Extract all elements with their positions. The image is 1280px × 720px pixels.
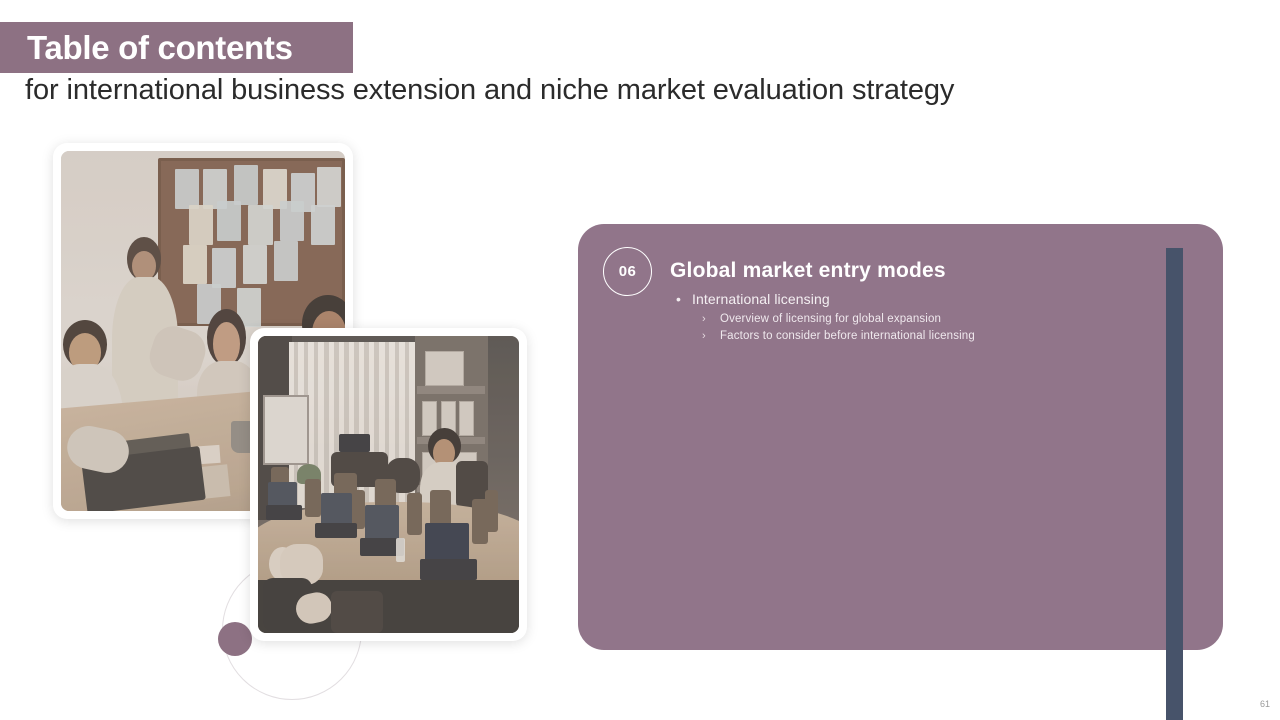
section-heading: Global market entry modes [670, 259, 946, 283]
section-number-badge: 06 [603, 247, 652, 296]
section-number: 06 [619, 263, 637, 280]
section-sub-bullet-list: › Overview of licensing for global expan… [702, 311, 1146, 344]
chevron-right-icon: › [702, 328, 720, 344]
decorative-dot [218, 622, 252, 656]
sub-bullet-label: Factors to consider before international… [720, 328, 975, 344]
page-subtitle: for international business extension and… [25, 74, 954, 107]
bullet-marker-icon: • [676, 291, 692, 308]
list-item: › Overview of licensing for global expan… [702, 311, 1146, 327]
page-title: Table of contents [0, 29, 293, 67]
list-item: • International licensing [676, 291, 1146, 308]
section-card [578, 224, 1223, 650]
page-number: 61 [1260, 699, 1270, 709]
accent-bar [1166, 248, 1183, 720]
list-item: › Factors to consider before internation… [702, 328, 1146, 344]
chevron-right-icon: › [702, 311, 720, 327]
sub-bullet-label: Overview of licensing for global expansi… [720, 311, 941, 327]
photo-conference-room [258, 336, 519, 633]
photo-frame-conference-room [250, 328, 527, 641]
section-bullet-list: • International licensing › Overview of … [676, 291, 1146, 345]
title-band: Table of contents [0, 22, 353, 73]
bullet-label: International licensing [692, 291, 830, 308]
